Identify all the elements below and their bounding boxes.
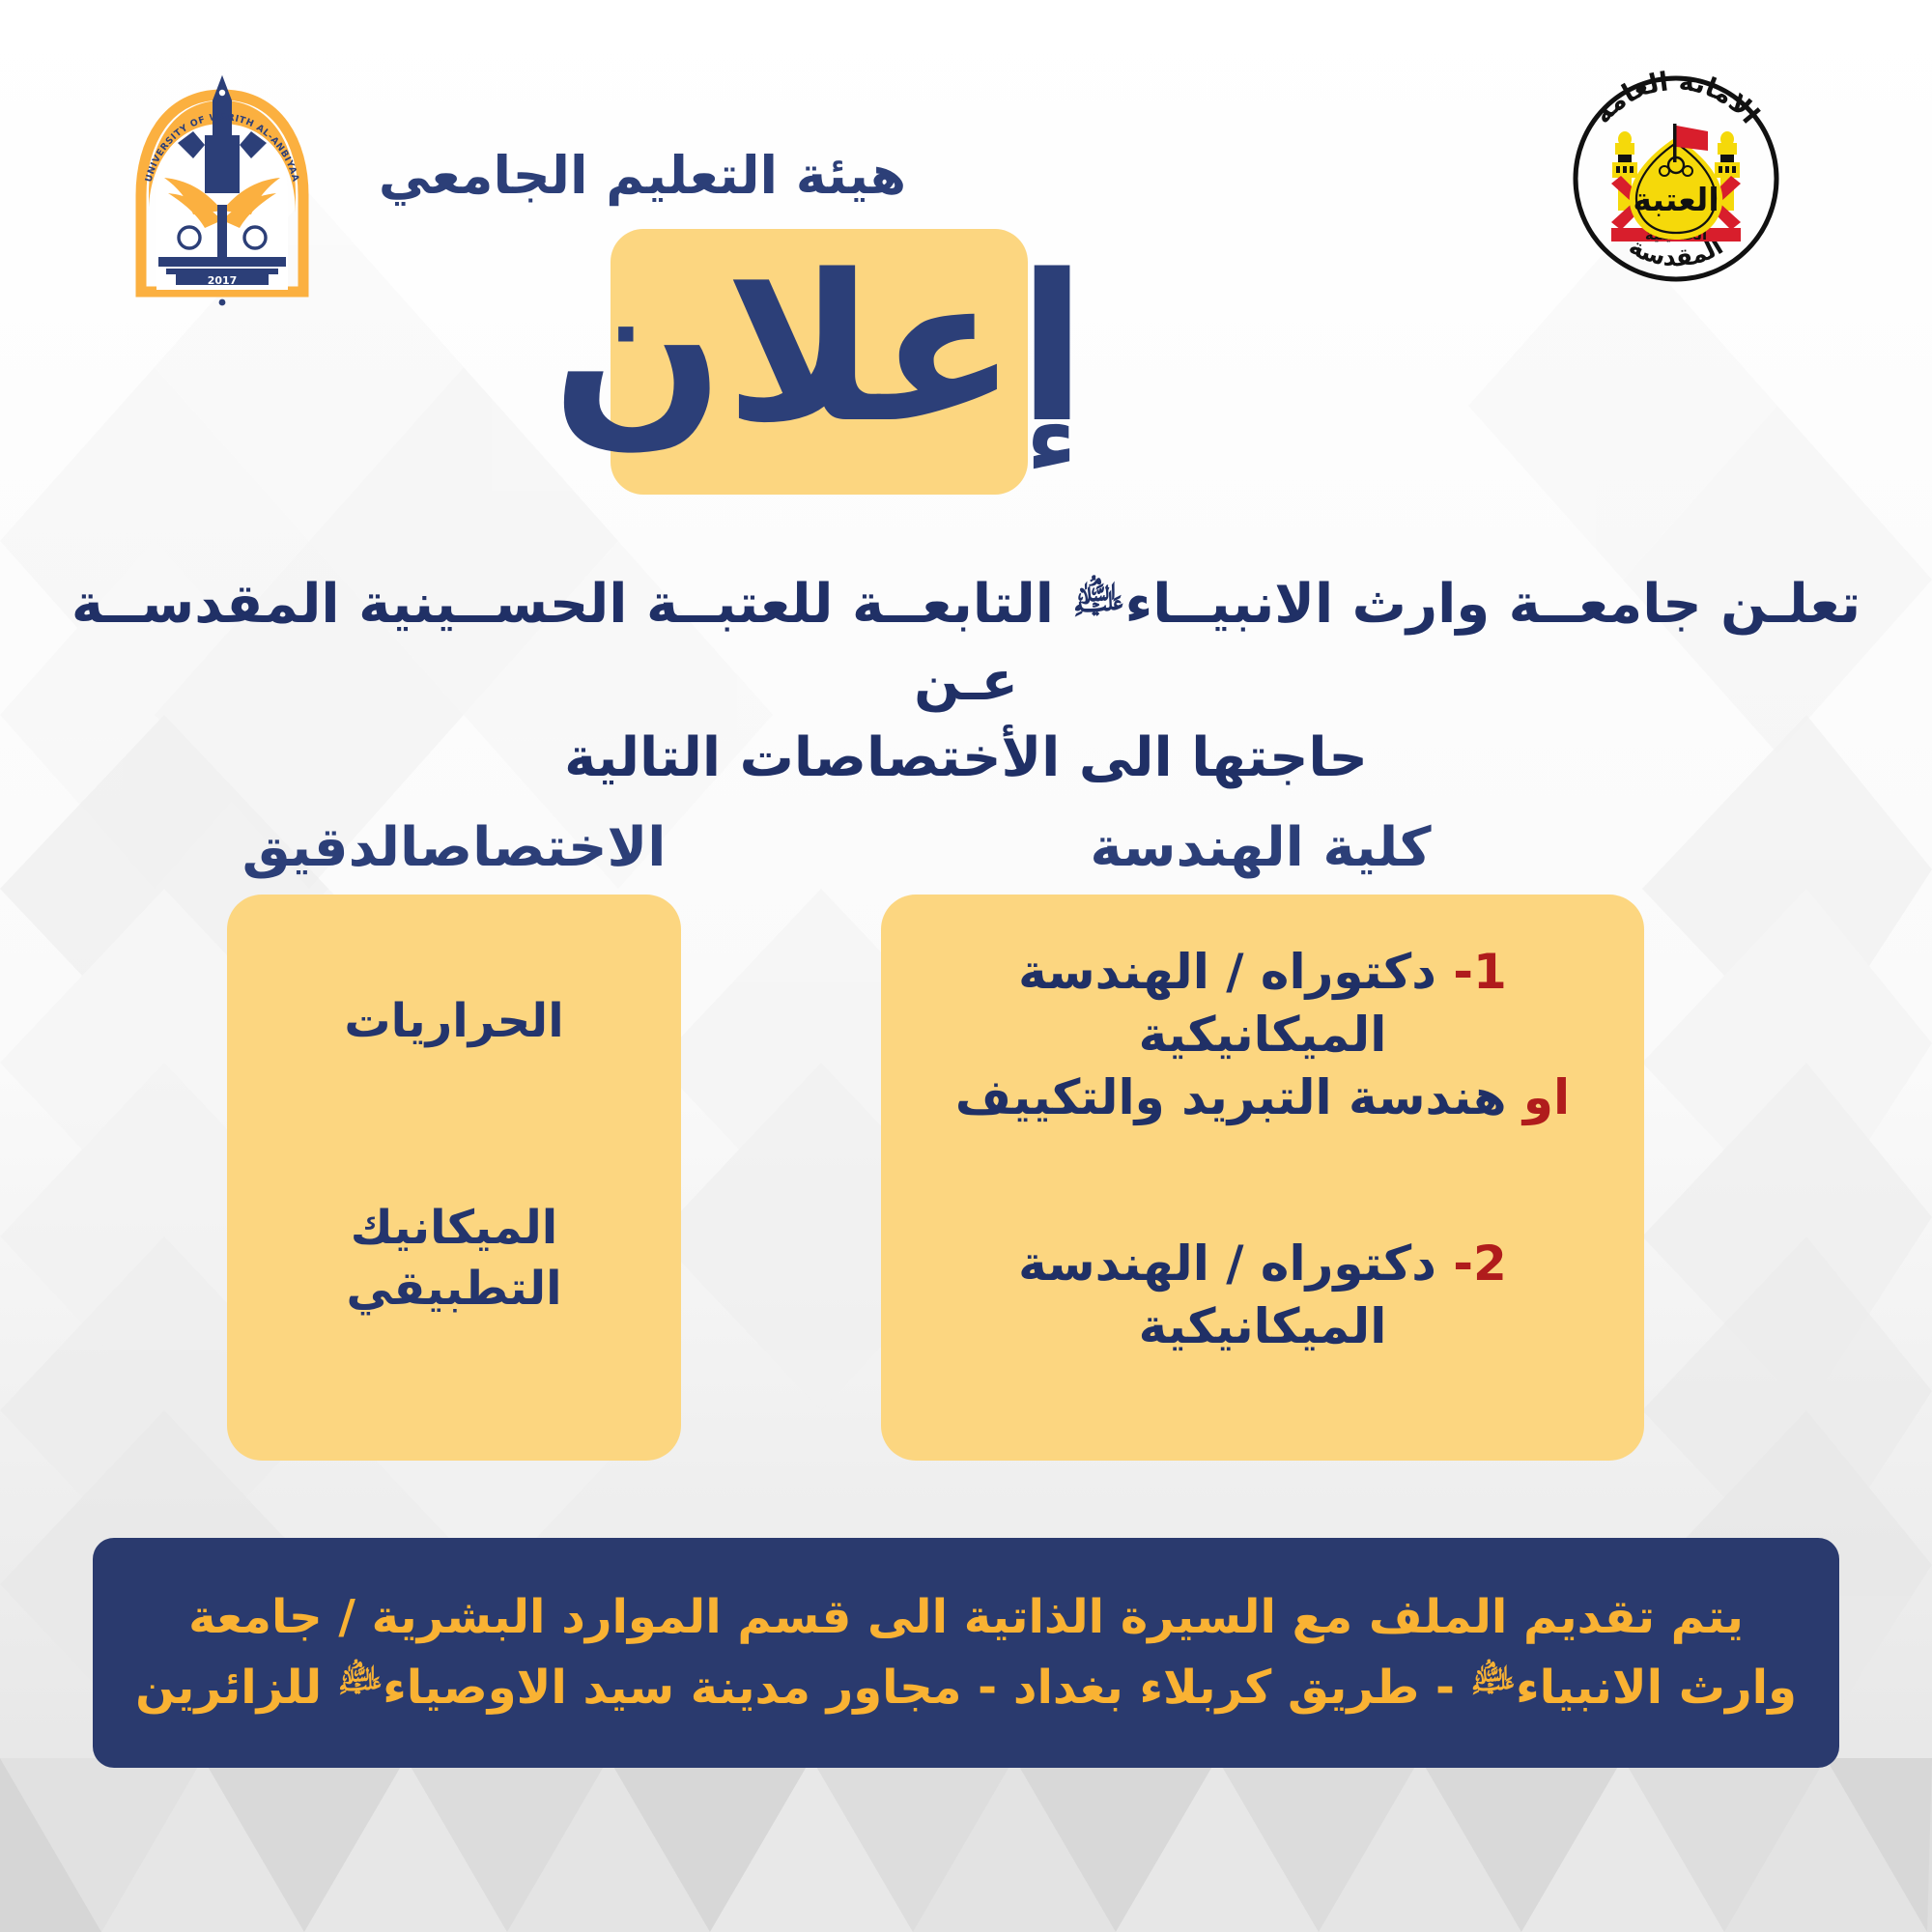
degree-row: 2- دكتوراه / الهندسة الميكانيكية [881,1233,1644,1358]
intro-line1-part2: التابعــة للعتبــة الحســينية المقدســة … [71,573,1054,713]
column-heading-college: كلية الهندسة [879,816,1642,879]
footer-banner: يتم تقديم الملف مع السيرة الذاتية الى قس… [93,1538,1839,1768]
svg-text:2017: 2017 [208,274,238,287]
intro-paragraph: تعلـن جامعــة وارث الانبيــاء﵇ التابعــة… [27,566,1905,797]
column-heading-specialization: الاختصاصالدقيق [198,816,710,879]
footer-line2-part3: للزائرين [135,1661,322,1715]
shrine-emblem-text: العتبة [1633,181,1719,218]
announcement-title-banner: إعلان [611,229,1028,495]
shrine-ring-top-text: الامانة العامة [1587,68,1765,129]
footer-text: يتم تقديم الملف مع السيرة الذاتية الى قس… [104,1583,1828,1721]
specializations-card: الحراريات الميكانيك التطبيقي [227,895,681,1461]
degrees-card: 1- دكتوراه / الهندسة الميكانيكية او هندس… [881,895,1644,1461]
svg-text:الامانة العامة: الامانة العامة [1587,68,1765,129]
honorific-glyph: ﵇ [338,1659,383,1698]
footer-line1: يتم تقديم الملف مع السيرة الذاتية الى قس… [188,1590,1744,1644]
degree-number: 2- [1453,1236,1507,1292]
footer-line2-part1: وارث الانبياء [1516,1661,1797,1715]
honorific-glyph: ﵇ [1072,573,1124,620]
intro-line2: حاجتها الى الأختصاصات التالية [564,726,1368,789]
degree-line1: دكتوراه / الهندسة الميكانيكية [1018,1236,1436,1354]
degree-conjunction: او [1523,1069,1570,1125]
footer-line2-part2: - طريق كربلاء بغداد - مجاور مدينة سيد ال… [383,1661,1455,1715]
degree-line2: هندسة التبريد والتكييف [955,1069,1507,1125]
degree-row: 1- دكتوراه / الهندسة الميكانيكية او هندس… [881,941,1644,1129]
specialization-row: الحراريات [227,991,681,1052]
shrine-logo: الامانة العامة المقدسة [1565,68,1787,290]
specialization-row: الميكانيك التطبيقي [227,1198,681,1321]
degree-line1: دكتوراه / الهندسة الميكانيكية [1018,944,1436,1063]
university-logo: 2017 UNIVERSITY OF WARITH AL-ANBIYAA [116,68,328,309]
honorific-glyph: ﵇ [1471,1659,1516,1698]
intro-line1-part1: تعلـن جامعــة وارث الانبيــاء [1125,573,1861,636]
degree-number: 1- [1453,944,1507,1000]
announcement-title-text: إعلان [552,248,1087,451]
announcement-poster: 2017 UNIVERSITY OF WARITH AL-ANBIYAA الا… [0,0,1932,1932]
